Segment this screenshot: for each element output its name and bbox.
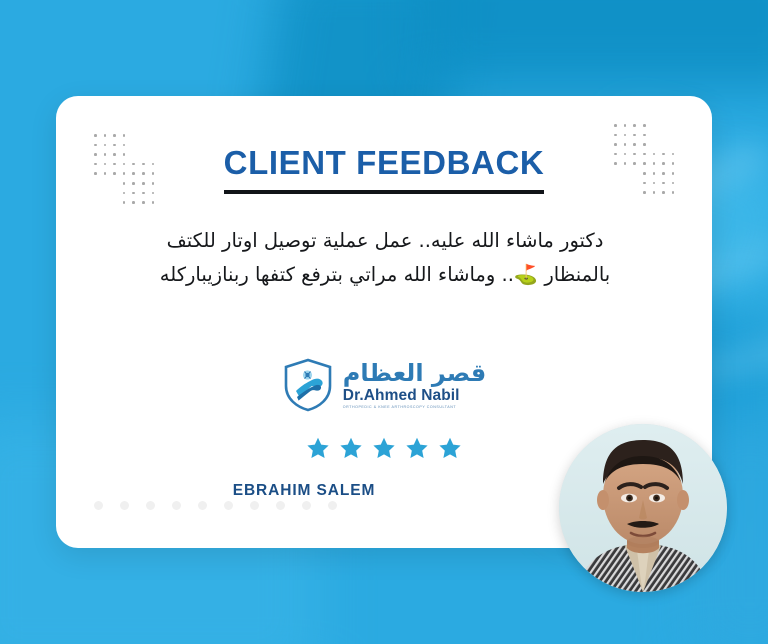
grid-dot xyxy=(152,201,155,204)
logo-subtitle: ORTHOPEDIC & KNEE ARTHROSCOPY CONSULTANT xyxy=(343,406,456,410)
grid-dot xyxy=(614,134,617,137)
logo-wordmark: قصر العظام Dr.Ahmed Nabil ORTHOPEDIC & K… xyxy=(343,361,486,410)
faint-dot xyxy=(120,501,129,510)
faint-dot xyxy=(94,501,103,510)
testimonial-quote: دكتور ماشاء الله عليه.. عمل عملية توصيل … xyxy=(142,224,628,291)
grid-dot xyxy=(633,124,636,127)
logo-arabic-name: قصر العظام xyxy=(343,361,486,385)
star-icon xyxy=(306,436,330,460)
title-text: CLIENT FEEDBACK xyxy=(224,144,545,194)
faint-dot xyxy=(172,501,181,510)
dot-row-icon xyxy=(94,501,337,510)
faint-dot xyxy=(198,501,207,510)
grid-dot xyxy=(104,134,107,137)
star-icon xyxy=(372,436,396,460)
grid-dot xyxy=(123,201,126,204)
star-icon xyxy=(339,436,363,460)
grid-dot xyxy=(94,134,97,137)
client-portrait-photo xyxy=(559,424,727,592)
grid-dot xyxy=(624,124,627,127)
grid-dot xyxy=(113,134,116,137)
reviewer-name: EBRAHIM SALEM xyxy=(56,482,552,500)
grid-dot xyxy=(142,201,145,204)
grid-dot xyxy=(643,124,646,127)
background-shape xyxy=(420,0,768,90)
testimonial-graphic: CLIENT FEEDBACK دكتور ماشاء الله عليه.. … xyxy=(0,0,768,644)
clinic-logo: قصر العظام Dr.Ahmed Nabil ORTHOPEDIC & K… xyxy=(56,358,712,412)
shield-bone-icon xyxy=(282,358,334,412)
faint-dot xyxy=(250,501,259,510)
grid-dot xyxy=(123,134,126,137)
grid-dot xyxy=(643,134,646,137)
star-icon xyxy=(438,436,462,460)
page-title: CLIENT FEEDBACK xyxy=(56,144,712,194)
grid-dot xyxy=(132,201,135,204)
faint-dot xyxy=(302,501,311,510)
faint-dot xyxy=(276,501,285,510)
grid-dot xyxy=(624,134,627,137)
faint-dot xyxy=(146,501,155,510)
faint-dot xyxy=(224,501,233,510)
faint-dot xyxy=(328,501,337,510)
logo-english-name: Dr.Ahmed Nabil xyxy=(343,388,460,404)
avatar xyxy=(559,424,727,592)
grid-dot xyxy=(633,134,636,137)
star-icon xyxy=(405,436,429,460)
grid-dot xyxy=(614,124,617,127)
